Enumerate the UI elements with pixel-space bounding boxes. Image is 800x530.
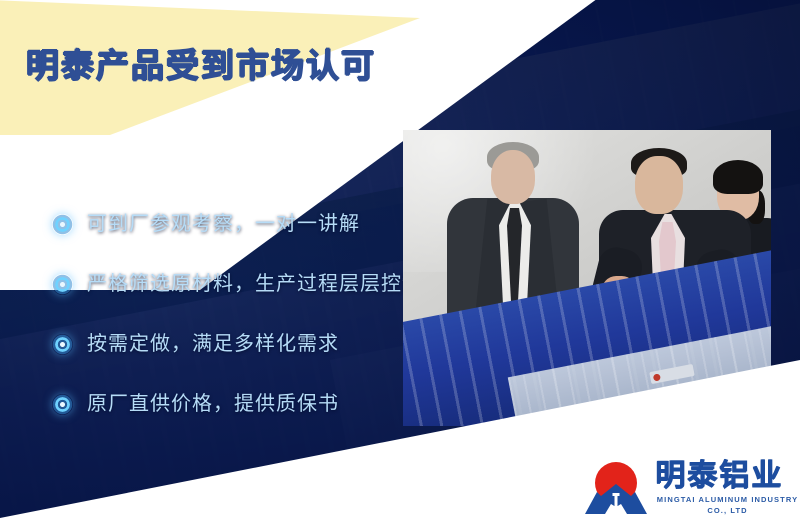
list-item-label: 原厂直供价格，提供质保书 (87, 391, 339, 417)
company-logo: 明泰铝业 MINGTAI ALUMINUM INDUSTRY CO., LTD (585, 460, 800, 516)
mingtai-mark-icon (585, 460, 647, 516)
list-item: 按需定做，满足多样化需求 (52, 326, 423, 362)
logo-chinese-name: 明泰铝业 (655, 460, 800, 492)
blue-mountain-m-icon (585, 484, 647, 516)
list-item: 可到厂参观考察，一对一讲解 (52, 206, 423, 242)
logo-text-block: 明泰铝业 MINGTAI ALUMINUM INDUSTRY CO., LTD (655, 460, 800, 516)
banner-stage: 明泰产品受到市场认可 可到厂参观考察，一对一讲解 严格筛选原材料，生产过程层层控… (0, 0, 800, 530)
target-ring-icon (52, 214, 73, 235)
page-title: 明泰产品受到市场认可 (26, 44, 376, 88)
list-item-label: 可到厂参观考察，一对一讲解 (87, 211, 360, 237)
person-right-hair (713, 160, 763, 194)
person-center-head (635, 156, 683, 214)
target-ring-icon (52, 274, 73, 295)
logo-english-name: MINGTAI ALUMINUM INDUSTRY CO., LTD (655, 494, 800, 516)
list-item-label: 按需定做，满足多样化需求 (87, 331, 339, 357)
list-item: 严格筛选原材料，生产过程层层控制 (52, 266, 423, 302)
list-item-label: 严格筛选原材料，生产过程层层控制 (87, 271, 423, 297)
target-ring-icon (52, 334, 73, 355)
list-item: 原厂直供价格，提供质保书 (52, 386, 423, 422)
feature-list: 可到厂参观考察，一对一讲解 严格筛选原材料，生产过程层层控制 按需定做，满足多样… (52, 206, 423, 446)
person-left-head (491, 150, 535, 204)
target-ring-icon (52, 394, 73, 415)
